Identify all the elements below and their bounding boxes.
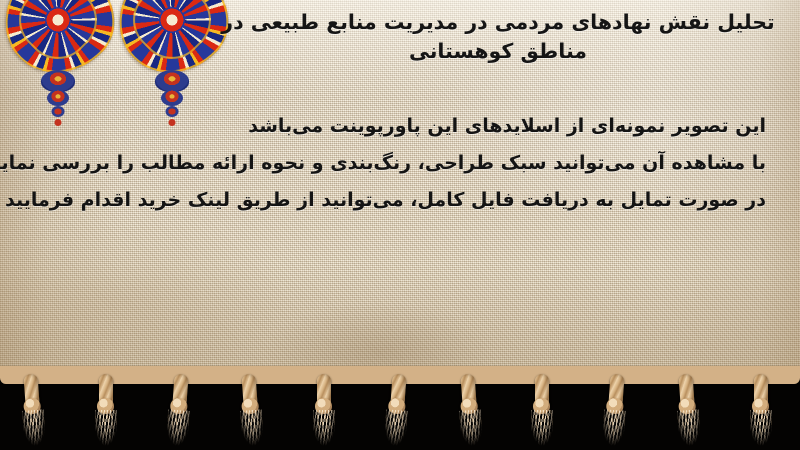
tassel-tuft	[677, 409, 701, 446]
tassel-tuft	[531, 410, 553, 446]
slide-title-line-2: مناطق کوهستانی	[220, 37, 776, 66]
fringe-tassel	[751, 374, 771, 448]
fringe-tassel	[314, 374, 334, 448]
slide-body-line-2: با مشاهده آن می‌توانید سبک طراحی، رنگ‌بن…	[26, 145, 766, 182]
tassel-tuft	[602, 409, 626, 446]
fringe-tassel	[603, 373, 628, 448]
medallion-pendant-1	[155, 70, 189, 92]
medallion-pendant-2	[161, 90, 183, 106]
tassel-tuft	[95, 410, 117, 446]
slide-body-line-3: در صورت تمایل به دریافت فایل کامل، می‌تو…	[26, 182, 766, 219]
fringe-tassel	[457, 373, 482, 448]
fringe-tassel	[21, 373, 46, 448]
slide-canvas: تحلیل نقش نهادهای مردمی در مدیریت منابع …	[0, 0, 800, 450]
carpet-fringe-band	[0, 366, 800, 450]
slide-title: تحلیل نقش نهادهای مردمی در مدیریت منابع …	[220, 8, 776, 66]
tassel-tuft	[313, 410, 335, 446]
fringe-tassel	[532, 374, 552, 448]
tassel-tuft	[459, 409, 483, 446]
medallion-pendant-2	[47, 90, 69, 106]
slide-body-line-1: این تصویر نمونه‌ای از اسلایدهای این پاور…	[26, 108, 766, 145]
fringe-tassel	[384, 373, 409, 448]
tassel-tuft	[22, 409, 46, 446]
medallion-pendant-1	[41, 70, 75, 92]
fringe-tassel	[96, 374, 116, 448]
fringe-tassel	[166, 373, 191, 448]
slide-title-line-1: تحلیل نقش نهادهای مردمی در مدیریت منابع …	[220, 8, 776, 37]
fringe-tassel	[239, 373, 264, 448]
tassel-tuft	[240, 409, 264, 446]
tassel-tuft	[750, 410, 772, 446]
carpet-medallion-left-icon	[4, 0, 112, 74]
slide-body: این تصویر نمونه‌ای از اسلایدهای این پاور…	[26, 108, 766, 219]
tassel-tuft	[383, 409, 407, 446]
fringe-tassel	[675, 373, 700, 448]
tassel-tuft	[165, 409, 189, 446]
carpet-medallion-right-icon	[118, 0, 226, 74]
